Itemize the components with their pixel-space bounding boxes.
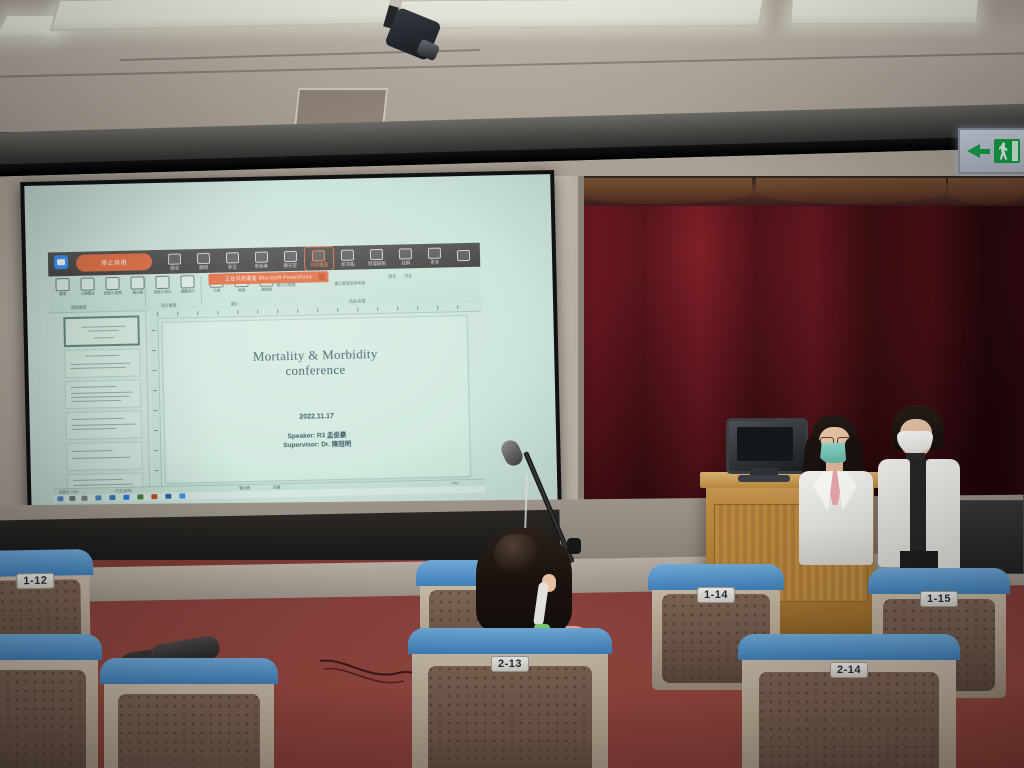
sparkle-icon bbox=[341, 250, 354, 261]
seat-trim bbox=[0, 634, 102, 660]
ribbon-group-caption: 母片檢視 bbox=[161, 304, 176, 309]
chat-icon bbox=[283, 251, 296, 262]
ribbon-button-handout-master[interactable]: 講義母片 bbox=[177, 275, 197, 293]
projection-screen: 停止共用 靜音 關閉 安全 參與者 聊天室 共用畫面 新功能 管理錄製 註解 更… bbox=[20, 170, 562, 522]
ribbon-button-slide-master[interactable]: 投影片母片 bbox=[152, 276, 172, 294]
stop-share-button[interactable]: 停止共用 bbox=[76, 253, 152, 272]
ribbon-group-presentation-views: 標準 大綱模式 投影片瀏覽 備忘稿 bbox=[52, 276, 147, 296]
handout-icon bbox=[180, 275, 194, 288]
zoom-control-share-screen[interactable]: 共用畫面 bbox=[304, 247, 333, 271]
zoom-taskbar-icon[interactable] bbox=[179, 493, 185, 498]
ellipsis-icon bbox=[428, 248, 441, 259]
slide-thumbnail[interactable] bbox=[66, 441, 143, 471]
slide-thumbnail-panel[interactable] bbox=[57, 312, 150, 490]
seat-trim bbox=[738, 634, 960, 660]
share-screen-icon bbox=[312, 250, 325, 261]
record-icon bbox=[370, 249, 383, 260]
ribbon-button-outline[interactable]: 大綱模式 bbox=[77, 277, 97, 295]
auditorium-seat[interactable] bbox=[0, 640, 98, 768]
zoom-control-record[interactable]: 管理錄製 bbox=[362, 246, 391, 270]
curtain-swag bbox=[756, 178, 946, 204]
ribbon-button-sorter[interactable]: 投影片瀏覽 bbox=[102, 277, 122, 295]
skylight-panel bbox=[789, 0, 980, 25]
seat-number-label: 1-12 bbox=[16, 572, 54, 589]
seat-trim bbox=[408, 628, 612, 654]
slide-thumbnail[interactable] bbox=[63, 315, 140, 347]
loudspeaker-cabinet bbox=[958, 500, 1024, 574]
ribbon-group-caption: 顯示 bbox=[231, 302, 239, 307]
ribbon-button-normal[interactable]: 標準 bbox=[52, 278, 72, 296]
seat-back-pad bbox=[0, 670, 86, 768]
auditorium-seat[interactable]: 2-13 bbox=[412, 634, 608, 768]
seat-trim bbox=[868, 568, 1010, 594]
taskview-icon[interactable] bbox=[81, 496, 87, 501]
zoom-control-fullscreen[interactable] bbox=[449, 244, 478, 268]
skylight-panel bbox=[395, 0, 765, 29]
seat-trim bbox=[100, 658, 278, 684]
ribbon-option-smartguides-label: 顯示智慧型參考線 bbox=[335, 281, 365, 287]
normal-view-icon bbox=[55, 278, 69, 291]
exit-sign bbox=[958, 128, 1024, 174]
zoom-control-security[interactable]: 安全 bbox=[218, 249, 247, 273]
status-zoom-level[interactable]: 74% bbox=[451, 481, 458, 485]
ribbon-group-caption: 簡報檢視 bbox=[71, 306, 86, 311]
slide-thumbnail[interactable] bbox=[65, 410, 142, 440]
presenter-at-podium bbox=[795, 415, 875, 565]
auditorium-seat[interactable] bbox=[104, 664, 274, 768]
outline-icon bbox=[80, 277, 94, 290]
projected-powerpoint-window: 停止共用 靜音 關閉 安全 參與者 聊天室 共用畫面 新功能 管理錄製 註解 更… bbox=[48, 243, 486, 503]
stop-share-label: 停止共用 bbox=[101, 258, 127, 268]
running-person-icon bbox=[994, 139, 1020, 163]
notes-icon bbox=[130, 276, 144, 289]
zoom-control-more[interactable]: 更多 bbox=[420, 244, 449, 268]
annotate-icon bbox=[399, 248, 412, 259]
seat-number-label: 1-14 bbox=[697, 587, 735, 603]
monitor-foot bbox=[738, 475, 790, 482]
sorter-icon bbox=[105, 277, 119, 290]
slide-date: 2022.11.17 bbox=[165, 410, 469, 424]
ribbon-option-gridlines-label: 顯示方格線 bbox=[277, 283, 296, 288]
curtain-swag bbox=[948, 178, 1024, 204]
seat-back-pad bbox=[118, 694, 261, 768]
seat-back-pad bbox=[428, 666, 593, 768]
zoom-control-mute[interactable]: 靜音 bbox=[160, 250, 189, 274]
slide-thumbnail[interactable] bbox=[65, 379, 142, 409]
fullscreen-icon bbox=[457, 249, 470, 260]
slide-editing-canvas[interactable]: Mortality & Morbidity conference 2022.11… bbox=[161, 315, 471, 484]
ceiling-projector bbox=[382, 6, 444, 62]
language-field-label: 語言: bbox=[388, 275, 397, 280]
colleague-standing bbox=[876, 405, 962, 575]
slide-credits: Speaker: R3 孟俊豪 Supervisor: Dr. 陳冠明 bbox=[165, 428, 469, 453]
slide-thumbnail[interactable] bbox=[64, 348, 141, 378]
zoom-control-new-feature[interactable]: 新功能 bbox=[333, 246, 362, 270]
powerpoint-icon[interactable] bbox=[151, 494, 157, 499]
curtain-swag bbox=[566, 178, 752, 204]
microphone-icon bbox=[168, 253, 181, 264]
shield-icon bbox=[226, 252, 239, 263]
projection-surface: 停止共用 靜音 關閉 安全 參與者 聊天室 共用畫面 新功能 管理錄製 註解 更… bbox=[24, 174, 557, 518]
participants-icon bbox=[255, 252, 268, 263]
podium-monitor bbox=[726, 418, 802, 482]
search-icon[interactable] bbox=[69, 496, 75, 501]
auditorium-seat[interactable]: 2-14 bbox=[742, 640, 956, 768]
seat-number-label: 2-14 bbox=[830, 662, 868, 678]
vertical-ruler bbox=[149, 318, 162, 486]
seat-number-label: 2-13 bbox=[491, 656, 529, 672]
seat-back-pad bbox=[759, 672, 939, 768]
auditorium-photo: 停止共用 靜音 關閉 安全 參與者 聊天室 共用畫面 新功能 管理錄製 註解 更… bbox=[0, 0, 1024, 768]
zoom-logo-icon bbox=[54, 255, 68, 269]
audience-member bbox=[476, 528, 572, 638]
zoom-control-video[interactable]: 關閉 bbox=[189, 250, 218, 274]
zoom-control-annotate[interactable]: 註解 bbox=[391, 245, 420, 269]
zoom-control-chat[interactable]: 聊天室 bbox=[275, 248, 304, 272]
excel-icon[interactable] bbox=[137, 494, 143, 499]
start-icon[interactable] bbox=[57, 496, 63, 501]
word-icon[interactable] bbox=[165, 494, 171, 499]
explorer-icon[interactable] bbox=[95, 495, 101, 500]
chrome-icon[interactable] bbox=[123, 495, 129, 500]
share-status-text: 正在共用畫面 Microsoft PowerPoint bbox=[225, 274, 312, 283]
ribbon-group-caption: 色彩/灰階 bbox=[349, 299, 365, 304]
close-icon[interactable] bbox=[318, 273, 325, 280]
video-camera-icon bbox=[197, 253, 210, 264]
audience-hair-highlight bbox=[494, 534, 540, 574]
slide-master-icon bbox=[155, 276, 169, 289]
language-field-value: 中文 bbox=[404, 274, 412, 279]
microphone-icon bbox=[498, 437, 525, 468]
edge-icon[interactable] bbox=[109, 495, 115, 500]
ribbon-group-master-views: 投影片母片 講義母片 bbox=[152, 275, 197, 294]
zoom-control-participants[interactable]: 參與者 bbox=[247, 248, 276, 272]
exit-arrow-icon bbox=[967, 144, 990, 158]
seat-number-label: 1-15 bbox=[920, 591, 958, 607]
slide-title: Mortality & Morbidity conference bbox=[163, 344, 468, 381]
